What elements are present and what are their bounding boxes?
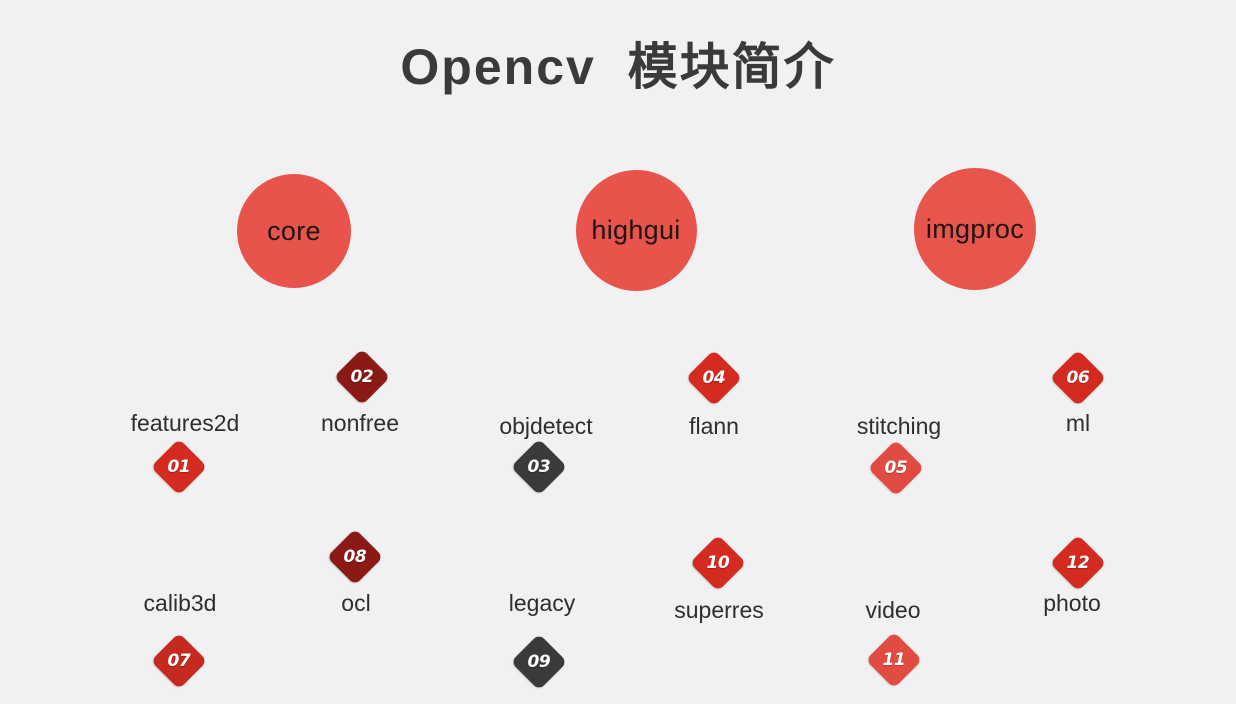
module-badge-number: 04	[703, 369, 726, 386]
module-badge-video[interactable]: 11	[866, 632, 923, 689]
module-label-calib3d[interactable]: calib3d	[144, 592, 217, 615]
slide-canvas: Opencv 模块简介 corehighguiimgproc 01feature…	[0, 0, 1236, 704]
module-label-ocl[interactable]: ocl	[341, 592, 370, 615]
module-label-superres[interactable]: superres	[674, 599, 763, 622]
module-badge-number: 02	[351, 368, 374, 385]
page-title: Opencv 模块简介	[0, 36, 1236, 99]
module-label-ml[interactable]: ml	[1066, 412, 1090, 435]
module-circle-core[interactable]: core	[237, 174, 351, 288]
module-badge-flann[interactable]: 04	[686, 350, 743, 407]
module-label-video[interactable]: video	[866, 599, 921, 622]
module-badge-number: 09	[528, 653, 551, 670]
module-badge-nonfree[interactable]: 02	[334, 349, 391, 406]
module-badge-objdetect[interactable]: 03	[511, 439, 568, 496]
module-badge-superres[interactable]: 10	[690, 535, 747, 592]
module-badge-number: 12	[1067, 554, 1090, 571]
module-badge-ml[interactable]: 06	[1050, 350, 1107, 407]
module-label-objdetect[interactable]: objdetect	[499, 415, 592, 438]
module-circle-imgproc[interactable]: imgproc	[914, 168, 1036, 290]
module-badge-photo[interactable]: 12	[1050, 535, 1107, 592]
module-badge-ocl[interactable]: 08	[327, 529, 384, 586]
module-label-photo[interactable]: photo	[1043, 592, 1101, 615]
module-badge-number: 11	[883, 651, 906, 668]
module-badge-calib3d[interactable]: 07	[151, 633, 208, 690]
module-badge-number: 06	[1067, 369, 1090, 386]
module-badge-number: 08	[344, 548, 367, 565]
module-badge-number: 05	[885, 459, 908, 476]
module-badge-number: 03	[528, 458, 551, 475]
module-badge-stitching[interactable]: 05	[868, 440, 925, 497]
module-badge-legacy[interactable]: 09	[511, 634, 568, 691]
module-badge-number: 01	[168, 458, 191, 475]
module-badge-features2d[interactable]: 01	[151, 439, 208, 496]
module-label-legacy[interactable]: legacy	[509, 592, 575, 615]
module-label-flann[interactable]: flann	[689, 415, 739, 438]
module-circle-label: imgproc	[926, 214, 1024, 245]
module-circle-highgui[interactable]: highgui	[576, 170, 697, 291]
module-label-nonfree[interactable]: nonfree	[321, 412, 399, 435]
module-circle-label: highgui	[591, 215, 680, 246]
module-badge-number: 07	[168, 652, 191, 669]
module-circle-label: core	[267, 216, 321, 247]
module-label-stitching[interactable]: stitching	[857, 415, 941, 438]
module-badge-number: 10	[707, 554, 730, 571]
module-label-features2d[interactable]: features2d	[131, 412, 240, 435]
